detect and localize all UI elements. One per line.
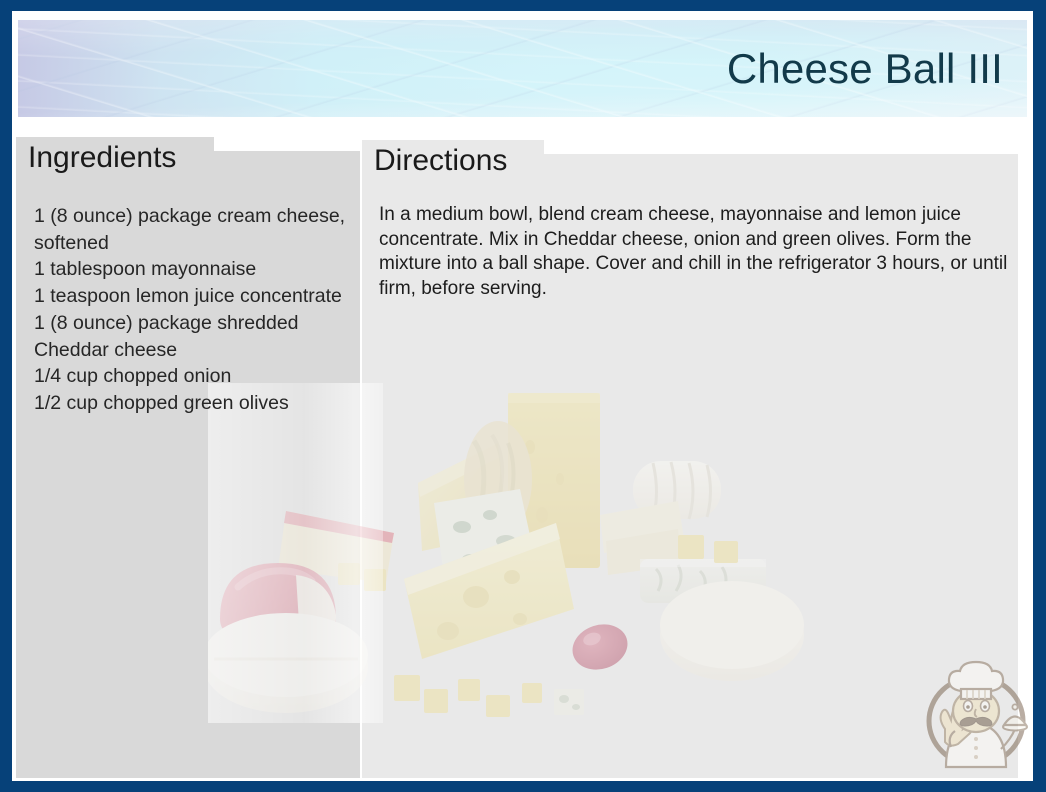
ingredient-item: 1 tablespoon mayonnaise	[34, 256, 354, 283]
header-banner: Cheese Ball III	[18, 20, 1027, 117]
ingredients-list: 1 (8 ounce) package cream cheese, soften…	[34, 203, 354, 417]
directions-body: In a medium bowl, blend cream cheese, ma…	[379, 203, 1031, 301]
ingredients-heading: Ingredients	[28, 143, 176, 173]
ingredient-item: 1 (8 ounce) package cream cheese, soften…	[34, 203, 354, 256]
ingredient-item: 1 teaspoon lemon juice concentrate	[34, 283, 354, 310]
ingredients-section-tab: Ingredients	[16, 137, 214, 179]
directions-section-tab: Directions	[362, 140, 544, 182]
page-title: Cheese Ball III	[727, 45, 1003, 93]
slide-page: Cheese Ball III	[12, 11, 1033, 781]
ingredient-item: 1/2 cup chopped green olives	[34, 390, 354, 417]
directions-heading: Directions	[374, 146, 507, 176]
ingredient-item: 1/4 cup chopped onion	[34, 363, 354, 390]
ingredient-item: 1 (8 ounce) package shredded Cheddar che…	[34, 310, 354, 363]
slide-frame: Cheese Ball III	[0, 0, 1046, 792]
